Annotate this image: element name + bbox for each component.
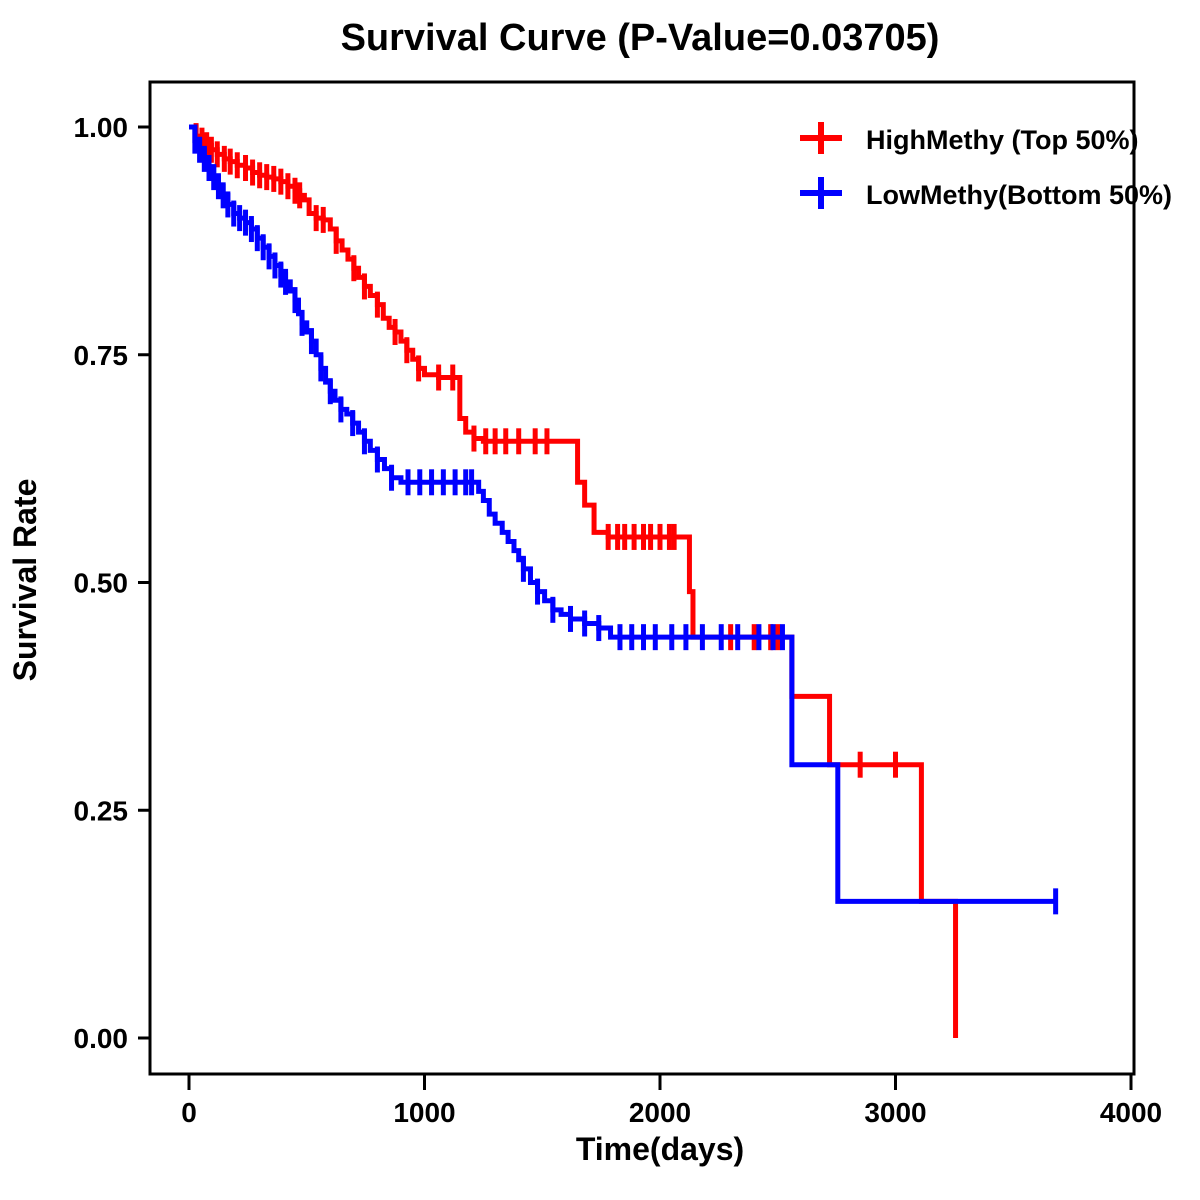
x-tick-label: 1000: [393, 1097, 455, 1128]
y-tick-label: 0.25: [74, 795, 129, 826]
y-tick-label: 1.00: [74, 112, 129, 143]
legend-entry[interactable]: HighMethy (Top 50%): [800, 122, 1139, 155]
plot-frame: [150, 82, 1134, 1074]
y-tick-label: 0.50: [74, 568, 129, 599]
y-axis-label: Survival Rate: [7, 479, 43, 682]
x-tick-label: 2000: [629, 1097, 691, 1128]
plot-canvas: Survival Curve (P-Value=0.03705) 0.000.2…: [0, 0, 1200, 1200]
chart-title: Survival Curve (P-Value=0.03705): [341, 17, 940, 59]
y-axis-ticks: 0.000.250.500.751.00: [74, 112, 151, 1054]
survival-curve-figure: Survival Curve (P-Value=0.03705) 0.000.2…: [0, 0, 1200, 1200]
y-tick-label: 0.75: [74, 340, 129, 371]
x-axis-ticks: 01000200030004000: [181, 1074, 1162, 1128]
legend-label: HighMethy (Top 50%): [866, 125, 1139, 155]
censor-marks: [195, 128, 1056, 915]
y-tick-label: 0.00: [74, 1023, 129, 1054]
km-step-line: [189, 127, 1056, 901]
x-tick-label: 0: [181, 1097, 197, 1128]
x-axis-label: Time(days): [576, 1131, 744, 1167]
x-tick-label: 4000: [1100, 1097, 1162, 1128]
legend-label: LowMethy(Bottom 50%): [866, 180, 1172, 210]
legend-entry[interactable]: LowMethy(Bottom 50%): [800, 177, 1172, 210]
series-low-methy: [189, 127, 1056, 914]
chart-legend: HighMethy (Top 50%)LowMethy(Bottom 50%): [800, 122, 1172, 210]
x-tick-label: 3000: [864, 1097, 926, 1128]
series-layer: [189, 123, 1056, 1038]
